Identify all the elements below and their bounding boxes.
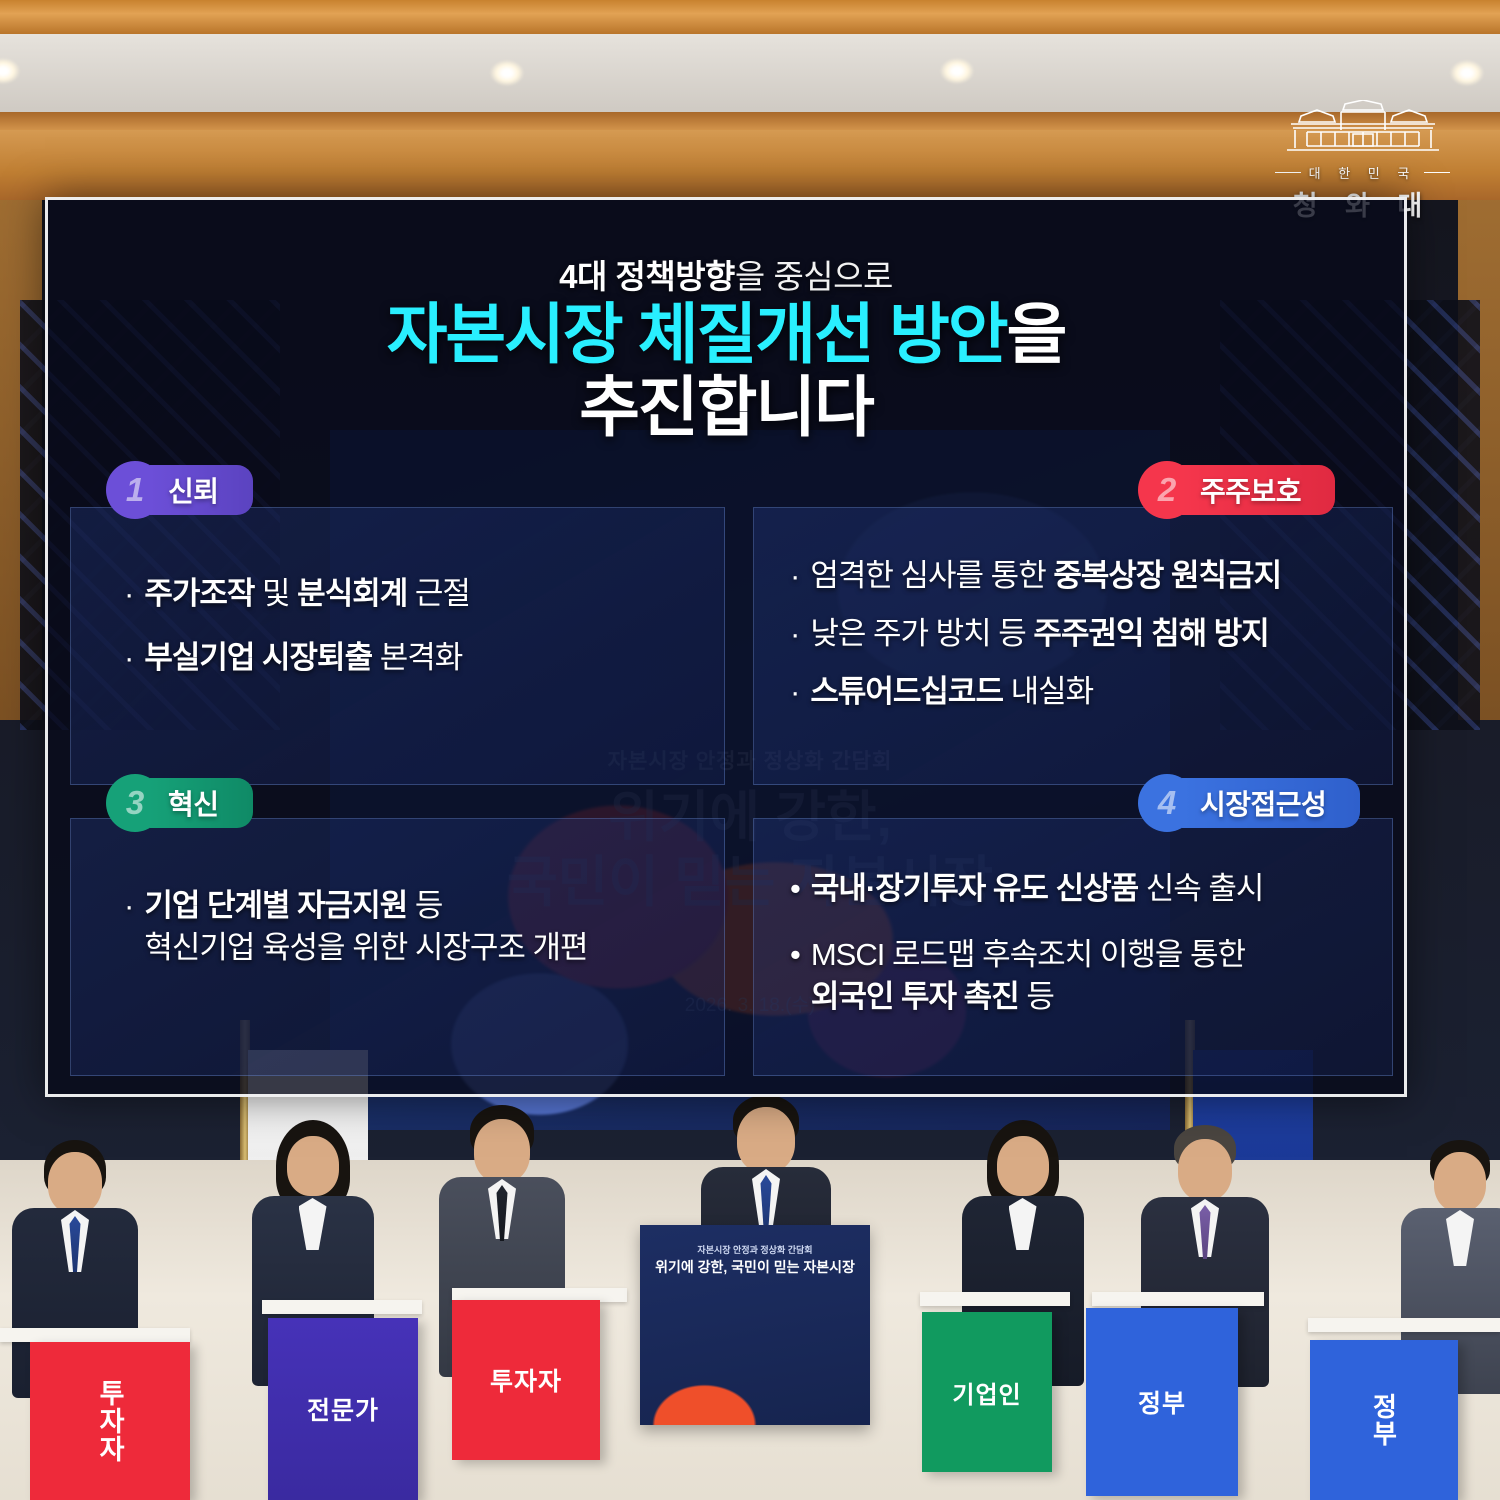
page-subtitle: 4대 정책방향을 중심으로 [48,250,1404,298]
badge-section-3[interactable]: 3 혁신 [106,774,253,832]
podium-business: 기업인 [922,1312,1052,1472]
ceiling-wood-trim [0,0,1500,34]
podium-label: 정부 [1138,1384,1186,1420]
desk-top [1092,1292,1264,1306]
bullet-dot: · [790,671,799,713]
badge-section-4[interactable]: 4 시장접근성 [1138,774,1360,832]
infographic-overlay: 4대 정책방향을 중심으로 자본시장 체질개선 방안을 추진합니다 1 신뢰 ·… [45,197,1407,1097]
bullets-section-3: ·기업 단계별 자금지원 등혁신기업 육성을 위한 시장구조 개편 [124,885,764,991]
bullet-text: 국내·장기투자 유도 신상품 신속 출시 [811,868,1264,910]
desk-top [0,1328,190,1342]
podium-investor-2: 투자자 [452,1300,600,1460]
head [1434,1152,1486,1212]
head [287,1136,339,1196]
podium-label: 기업인 [952,1375,1021,1410]
bullet-text: 기업 단계별 자금지원 등혁신기업 육성을 위한 시장구조 개편 [144,885,587,969]
desk-top [1308,1318,1500,1332]
bullet-item: ·주가조작 및 분식회계 근절 [124,573,724,615]
emblem-rule-right [1424,172,1450,173]
bullet-text: 부실기업 시장퇴출 본격화 [144,637,462,679]
bullet-item: ·부실기업 시장퇴출 본격화 [124,637,724,679]
bullet-text: 낮은 주가 방치 등 주주권익 침해 방지 [810,613,1268,655]
ceiling-spotlight [1450,60,1484,86]
desk-top [262,1300,422,1314]
bullets-section-1: ·주가조작 및 분식회계 근절 ·부실기업 시장퇴출 본격화 [124,573,724,701]
bullet-text: 스튜어드십코드 내실화 [810,671,1093,713]
ceiling-spotlight [490,60,524,86]
desk-top [920,1292,1070,1306]
podium-label: 정부 [1366,1393,1403,1447]
podium-government-1: 정부 [1086,1308,1238,1496]
subtitle-rest: 을 중심으로 [735,258,893,295]
head [474,1119,530,1183]
title-cyan: 자본시장 체질개선 방안 [387,297,1007,371]
bullet-dot: · [124,885,133,927]
badge-section-2[interactable]: 2 주주보호 [1138,461,1335,519]
bullet-item: ·엄격한 심사를 통한 중복상장 원칙금지 [790,555,1400,597]
bullet-dot: · [790,555,799,597]
badge-label-1: 신뢰 [150,465,253,515]
podium-expert: 전문가 [268,1318,418,1500]
bullet-item: •국내·장기투자 유도 신상품 신속 출시 [790,868,1410,910]
lectern-eyebrow: 자본시장 안정과 정상화 간담회 [640,1243,870,1256]
bullet-dot: · [790,613,799,655]
podium-investor-1: 투자자 [30,1342,190,1500]
bullet-item: •MSCI 로드맵 후속조치 이행을 통한외국인 투자 촉진 등 [790,934,1410,1018]
bullet-text: 주가조작 및 분식회계 근절 [144,573,470,615]
lectern-headline: 위기에 강한, 국민이 믿는 자본시장 [640,1257,870,1277]
podium-label: 투자자 [91,1379,130,1463]
head [997,1136,1049,1196]
bullets-section-2: ·엄격한 심사를 통한 중복상장 원칙금지 ·낮은 주가 방치 등 주주권익 침… [790,555,1400,735]
podium-government-2: 정부 [1310,1340,1458,1500]
bullet-text: 엄격한 심사를 통한 중복상장 원칙금지 [810,555,1281,597]
emblem-rule-left [1275,172,1301,173]
badge-section-1[interactable]: 1 신뢰 [106,461,253,519]
bullet-item: ·낮은 주가 방치 등 주주권익 침해 방지 [790,613,1400,655]
bullet-dot: · [124,573,133,615]
badge-label-3: 혁신 [150,778,253,828]
bullet-dot: · [124,637,133,679]
lectern-chart-graphic [640,1315,870,1425]
emblem-nation-row: 대 한 민 국 [1270,163,1455,182]
badge-label-2: 주주보호 [1182,465,1335,515]
emblem-nation-text: 대 한 민 국 [1309,163,1417,182]
bullet-item: ·스튜어드십코드 내실화 [790,671,1400,713]
title-line-2: 추진합니다 [48,371,1404,444]
title-line-1: 자본시장 체질개선 방안을 [48,298,1404,371]
podium-label: 전문가 [307,1391,379,1427]
page-title: 자본시장 체질개선 방안을 추진합니다 [48,298,1404,443]
head [737,1107,795,1173]
title-white-suffix: 을 [1007,297,1066,371]
head [1178,1139,1232,1201]
bullet-dot: • [790,868,800,910]
subtitle-emphasis: 4대 정책방향 [559,258,735,295]
podium-label: 투자자 [490,1362,562,1398]
cheongwadae-building-icon [1283,100,1443,154]
lectern-signboard: 자본시장 안정과 정상화 간담회 위기에 강한, 국민이 믿는 자본시장 [640,1225,870,1425]
ceiling-spotlight [940,58,974,84]
bullets-section-4: •국내·장기투자 유도 신상품 신속 출시 •MSCI 로드맵 후속조치 이행을… [790,868,1410,1040]
bullet-dot: • [790,934,800,976]
bullet-text: MSCI 로드맵 후속조치 이행을 통한외국인 투자 촉진 등 [811,934,1245,1018]
badge-label-4: 시장접근성 [1182,778,1360,828]
head [48,1152,102,1214]
bullet-item: ·기업 단계별 자금지원 등혁신기업 육성을 위한 시장구조 개편 [124,885,764,969]
